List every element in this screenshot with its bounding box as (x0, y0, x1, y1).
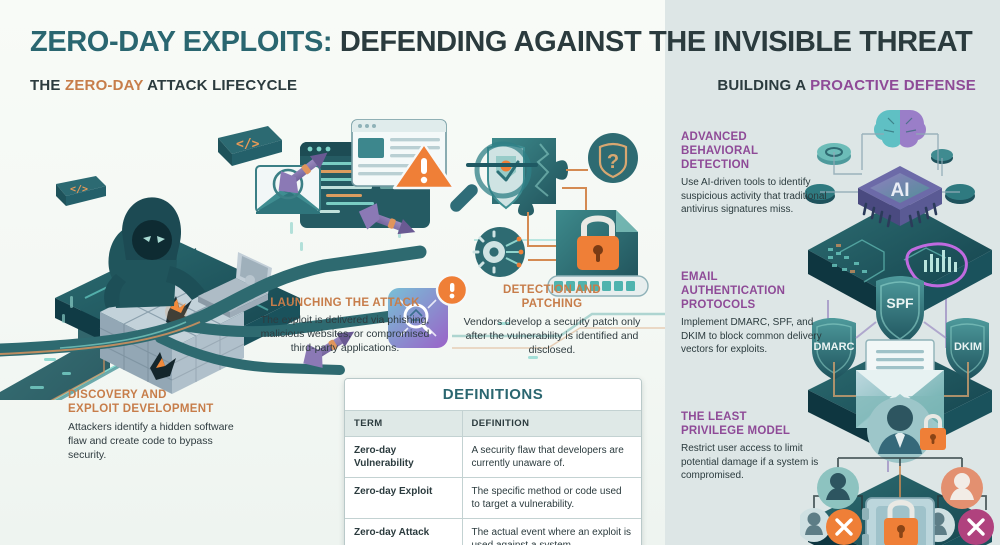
defense-2-heading-l1: EMAIL (681, 271, 718, 283)
defense-3-heading-l2: PRIVILEGE MODEL (681, 425, 790, 437)
definition-cell: The specific method or code used to targ… (462, 478, 641, 519)
left-section-title-accent: ZERO-DAY (65, 77, 143, 94)
defense-3-heading: THE LEAST PRIVILEGE MODEL (681, 410, 831, 438)
definitions-table: DEFINITIONS TERM DEFINITION Zero-day Vul… (344, 378, 642, 545)
stage-discovery-heading: DISCOVERY AND EXPLOIT DEVELOPMENT (68, 388, 243, 417)
definitions-title: DEFINITIONS (345, 379, 641, 410)
defense-2-heading-l3: PROTOCOLS (681, 299, 755, 311)
term-cell: Zero-day Vulnerability (345, 437, 462, 478)
stage-launching: LAUNCHING THE ATTACK The exploit is deli… (255, 296, 435, 356)
page-title-accent: ZERO-DAY EXPLOITS: (30, 26, 332, 58)
page-title: ZERO-DAY EXPLOITS: DEFENDING AGAINST THE… (30, 26, 980, 59)
stage-detection-heading-l2: PATCHING (522, 298, 583, 310)
defense-3-heading-l1: THE LEAST (681, 411, 747, 423)
term-cell: Zero-day Exploit (345, 478, 462, 519)
column-header-definition: DEFINITION (462, 411, 641, 437)
defense-1-heading-l1: ADVANCED (681, 131, 747, 143)
stage-launching-body: The exploit is delivered via phishing, m… (255, 314, 435, 356)
defense-1-heading-l2: BEHAVIORAL (681, 145, 758, 157)
stage-discovery-heading-l1: DISCOVERY AND (68, 389, 167, 401)
defense-1-heading: ADVANCED BEHAVIORAL DETECTION (681, 130, 831, 172)
defense-2-heading: EMAIL AUTHENTICATION PROTOCOLS (681, 270, 831, 312)
right-section-title-pre: BUILDING A (717, 77, 810, 94)
left-section-title-post: ATTACK LIFECYCLE (143, 77, 297, 94)
table-header-row: TERM DEFINITION (345, 411, 641, 437)
table-row: Zero-day Attack The actual event where a… (345, 519, 641, 545)
stage-discovery: DISCOVERY AND EXPLOIT DEVELOPMENT Attack… (68, 388, 243, 463)
defense-2-heading-l2: AUTHENTICATION (681, 285, 785, 297)
stage-detection-heading: DETECTION AND PATCHING (463, 283, 641, 312)
defense-2-body: Implement DMARC, SPF, and DKIM to block … (681, 316, 831, 357)
defense-3-body: Restrict user access to limit potential … (681, 442, 831, 483)
stage-detection-heading-l1: DETECTION AND (503, 284, 601, 296)
stage-detection: DETECTION AND PATCHING Vendors develop a… (463, 283, 641, 358)
definition-cell: A security flaw that developers are curr… (462, 437, 641, 478)
table-row: Zero-day Exploit The specific method or … (345, 478, 641, 519)
stage-launching-heading: LAUNCHING THE ATTACK (255, 296, 435, 310)
defense-least-privilege-model: THE LEAST PRIVILEGE MODEL Restrict user … (681, 410, 831, 483)
defense-email-authentication-protocols: EMAIL AUTHENTICATION PROTOCOLS Implement… (681, 270, 831, 357)
term-cell: Zero-day Attack (345, 519, 462, 545)
page-title-rest: DEFENDING AGAINST THE INVISIBLE THREAT (332, 26, 972, 58)
stage-detection-body: Vendors develop a security patch only af… (463, 316, 641, 358)
column-header-term: TERM (345, 411, 462, 437)
defense-advanced-behavioral-detection: ADVANCED BEHAVIORAL DETECTION Use AI-dri… (681, 130, 831, 217)
right-section-title-accent: PROACTIVE DEFENSE (810, 77, 976, 94)
infographic-root: </> </> (0, 0, 1000, 545)
table-row: Zero-day Vulnerability A security flaw t… (345, 437, 641, 478)
defense-1-heading-l3: DETECTION (681, 159, 749, 171)
definitions-grid: TERM DEFINITION Zero-day Vulnerability A… (345, 410, 641, 545)
stage-discovery-heading-l2: EXPLOIT DEVELOPMENT (68, 403, 214, 415)
definition-cell: The actual event where an exploit is use… (462, 519, 641, 545)
left-section-title-pre: THE (30, 77, 65, 94)
defense-1-body: Use AI-driven tools to identify suspicio… (681, 176, 831, 217)
left-section-title: THE ZERO-DAY ATTACK LIFECYCLE (30, 77, 297, 94)
right-section-title: BUILDING A PROACTIVE DEFENSE (717, 77, 976, 94)
stage-discovery-body: Attackers identify a hidden software fla… (68, 421, 243, 463)
